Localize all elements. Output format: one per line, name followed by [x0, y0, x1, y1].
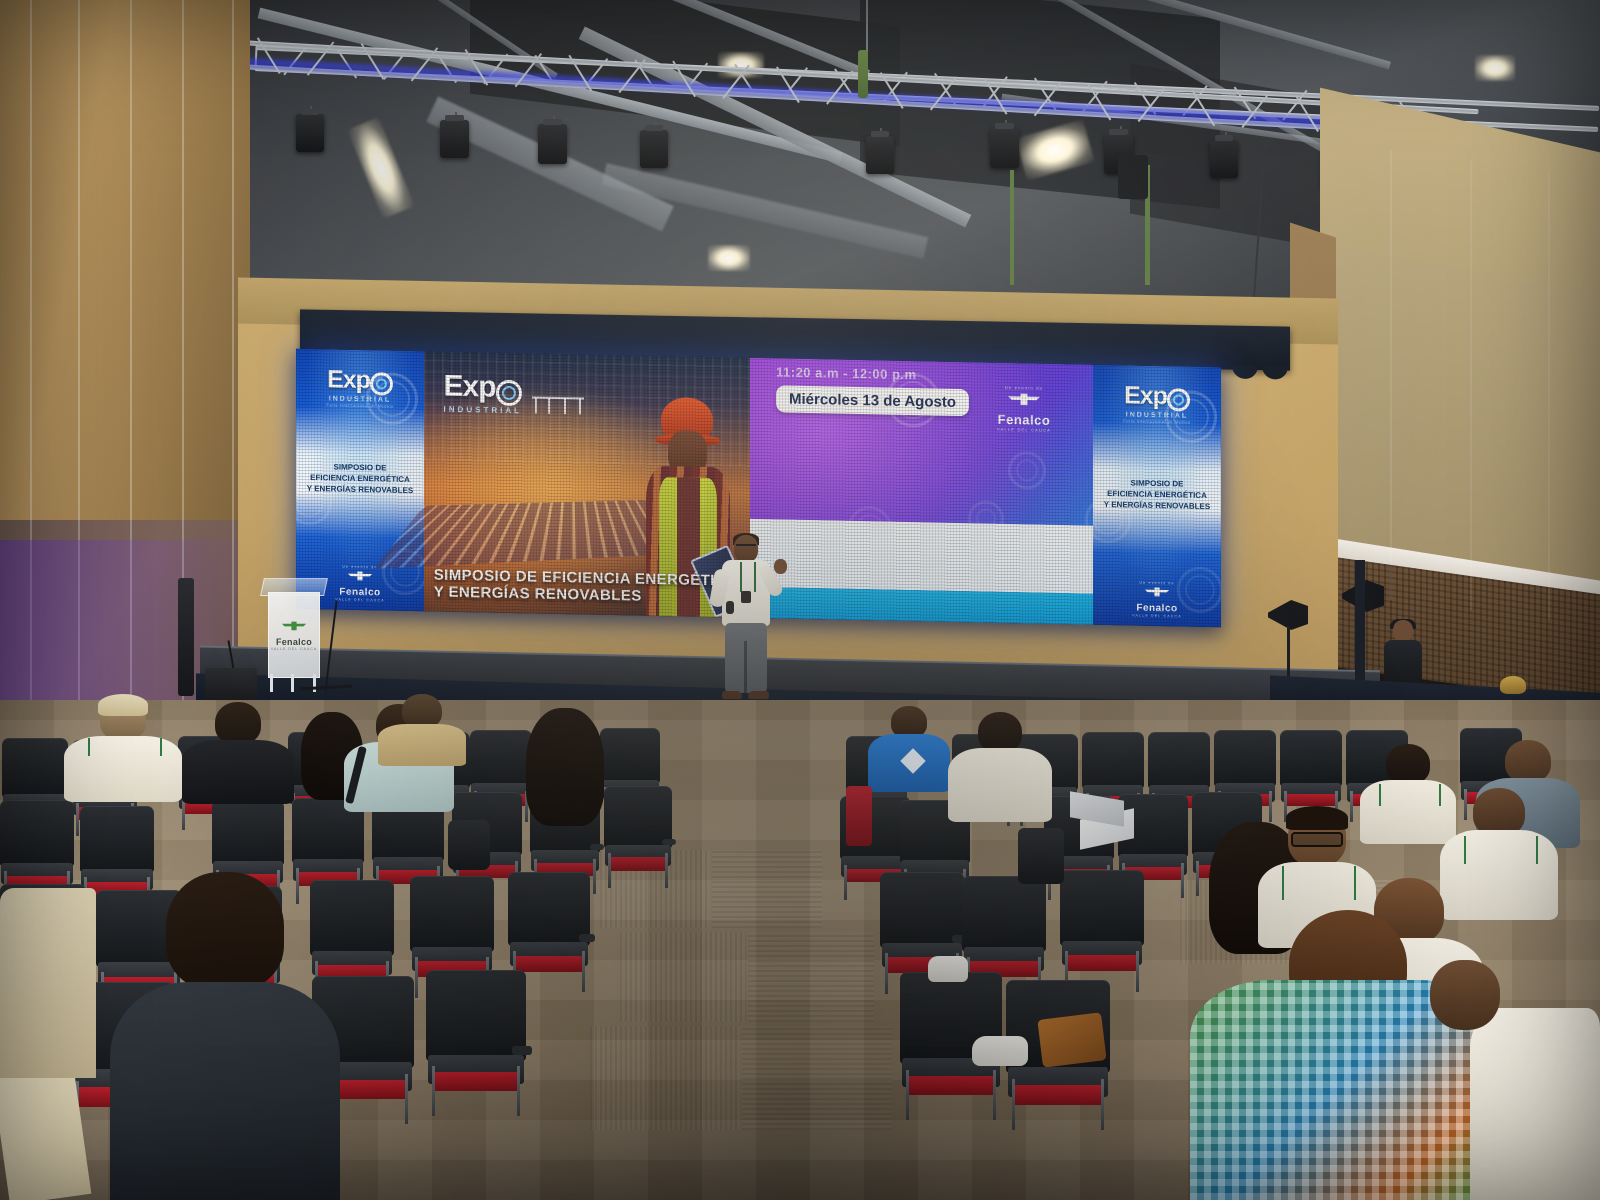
expo-logo-text: Exp	[327, 365, 370, 394]
presenter	[700, 535, 786, 700]
pa-speaker-column	[178, 578, 194, 696]
audience-member	[868, 706, 950, 792]
shoe	[972, 1036, 1028, 1066]
hoist-motor	[1118, 155, 1148, 199]
stage-light	[538, 124, 567, 164]
expo-logo-text: Exp	[444, 370, 496, 404]
chair[interactable]	[604, 786, 672, 888]
audience-member-white-shirt	[1470, 1008, 1600, 1200]
fenalco-brand: Fenalco	[997, 412, 1051, 428]
backpack	[448, 820, 490, 870]
wall-seam	[1470, 160, 1472, 610]
led-right-slide: 11:20 a.m - 12:00 p.m Miércoles 13 de Ag…	[750, 358, 1093, 625]
podium-region: VALLE DEL CAUCA	[269, 647, 319, 651]
fenalco-wing-icon	[1007, 390, 1041, 408]
fenalco-wing-icon	[1144, 585, 1170, 599]
session-date-chip: Miércoles 13 de Agosto	[776, 385, 969, 416]
stage-light	[1210, 140, 1238, 178]
audience-member	[378, 692, 466, 762]
podium: Fenalco VALLE DEL CAUCA	[262, 578, 324, 690]
audience-member-jacket	[0, 888, 96, 1078]
fenalco-logo-slide: Un evento de Fenalco VALLE DEL CAUCA	[997, 385, 1051, 433]
backpack	[1018, 828, 1064, 884]
expo-logo-subtitle: INDUSTRIAL	[444, 405, 522, 416]
fenalco-wing-icon	[347, 569, 373, 583]
chain-hoist	[858, 50, 868, 98]
audience-member	[948, 712, 1052, 822]
hair	[1286, 806, 1348, 830]
audience-head	[1430, 960, 1500, 1030]
wall-seam	[1390, 150, 1392, 600]
stage-light	[866, 136, 894, 174]
audience-member-foreground	[110, 872, 340, 1200]
led-left-side-panel: Exp INDUSTRIAL Feria Internacional de Me…	[296, 349, 424, 612]
shoe	[928, 956, 968, 982]
stage-light	[296, 114, 324, 152]
hoist-chain	[1010, 170, 1014, 285]
expo-logo-center: Exp INDUSTRIAL	[444, 370, 522, 415]
drone-graphic	[532, 385, 584, 415]
expo-logo-text: Exp	[1124, 381, 1167, 410]
cap-icon	[98, 694, 148, 716]
expo-gear-icon	[1167, 388, 1190, 411]
audience-member	[520, 708, 610, 838]
chair[interactable]	[1060, 870, 1144, 992]
red-jacket	[846, 786, 872, 846]
rigging-cable	[866, 0, 868, 56]
fenalco-region: VALLE DEL CAUCA	[997, 427, 1051, 433]
podium-logo: Fenalco VALLE DEL CAUCA	[269, 619, 319, 651]
expo-gear-icon	[496, 380, 522, 407]
ceiling-light	[1475, 55, 1515, 81]
podium-brand: Fenalco	[269, 637, 319, 647]
session-time: 11:20 a.m - 12:00 p.m	[776, 364, 917, 382]
stage-light	[990, 128, 1019, 168]
led-right-side-panel: Exp INDUSTRIAL Feria Internacional de Me…	[1093, 365, 1221, 628]
photo-scene: Exp INDUSTRIAL Feria Internacional de Me…	[0, 0, 1600, 1200]
expo-gear-icon	[370, 372, 393, 395]
ceiling-light	[708, 245, 750, 271]
fenalco-wing-icon	[281, 619, 307, 632]
wall-seam	[1548, 170, 1550, 620]
stage-light	[640, 130, 668, 168]
handbag	[1037, 1012, 1106, 1067]
chair[interactable]	[426, 970, 526, 1116]
audience-member	[182, 698, 294, 804]
equipment-case	[1500, 676, 1526, 694]
stage-light	[440, 120, 469, 158]
glasses-icon	[1291, 832, 1343, 847]
audience-member	[64, 692, 182, 802]
